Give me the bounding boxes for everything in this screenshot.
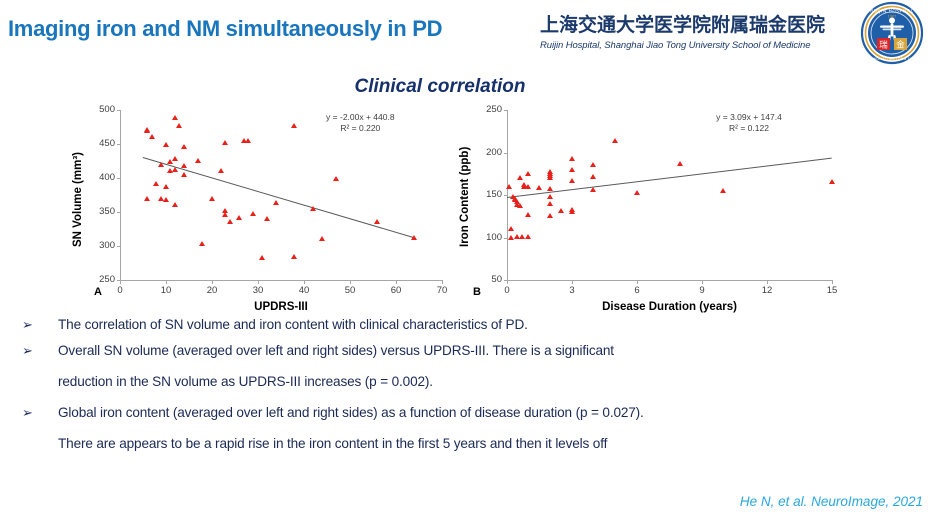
scatter-point (181, 163, 187, 168)
y-axis-tick-label: 300 (84, 240, 115, 251)
scatter-point (569, 209, 575, 214)
y-axis-tick-mark (117, 110, 121, 111)
x-axis-tick-mark (767, 280, 768, 284)
bullet-arrow-icon: ➢ (22, 318, 33, 331)
x-axis-tick-label: 15 (816, 285, 848, 296)
scatter-point (199, 241, 205, 246)
scatter-point (153, 181, 159, 186)
x-axis-tick-mark (832, 280, 833, 284)
scatter-point (172, 167, 178, 172)
scatter-point (176, 123, 182, 128)
scatter-point (181, 172, 187, 177)
scatter-point (149, 134, 155, 139)
svg-text:金: 金 (896, 40, 905, 51)
scatter-point (222, 208, 228, 213)
y-axis-tick-mark (117, 246, 121, 247)
scatter-point (163, 142, 169, 147)
slide-header: Imaging iron and NM simultaneously in PD… (0, 0, 941, 66)
scatter-point (517, 203, 523, 208)
scatter-point (374, 219, 380, 224)
scatter-point (264, 216, 270, 221)
y-axis-tick-mark (504, 153, 508, 154)
y-axis-tick-mark (117, 212, 121, 213)
scatter-point (720, 188, 726, 193)
x-axis-tick-label: 12 (751, 285, 783, 296)
x-axis-tick-label: 10 (150, 285, 182, 296)
y-axis-tick-label: 500 (84, 104, 115, 115)
x-axis-line (120, 280, 443, 281)
bullet-arrow-icon: ➢ (22, 406, 33, 419)
y-axis-tick-label: 50 (471, 274, 502, 285)
scatter-point (506, 184, 512, 189)
scatter-point (525, 234, 531, 239)
organization-name-english: Ruijin Hospital, Shanghai Jiao Tong Univ… (540, 40, 840, 51)
scatter-point (536, 185, 542, 190)
scatter-point (181, 144, 187, 149)
scatter-point (517, 175, 523, 180)
x-axis-tick-mark (304, 280, 305, 284)
x-axis-tick-label: 0 (104, 285, 136, 296)
scatter-point (144, 128, 150, 133)
scatter-point (310, 206, 316, 211)
bullet-text-line: There are appears to be a rapid rise in … (58, 435, 941, 453)
scatter-point (508, 235, 514, 240)
regression-equation: y = 3.09x + 147.4 (689, 112, 809, 123)
x-axis-tick-mark (637, 280, 638, 284)
page-title: Imaging iron and NM simultaneously in PD (8, 16, 442, 42)
scatter-point (163, 197, 169, 202)
x-axis-tick-label: 70 (426, 285, 458, 296)
y-axis-line (120, 110, 121, 280)
scatter-point (319, 236, 325, 241)
bullet-text-line: The correlation of SN volume and iron co… (58, 316, 941, 334)
svg-text:SHANGHAI JIAOTONG UNIV.: SHANGHAI JIAOTONG UNIV. (866, 57, 919, 61)
x-axis-tick-label: 60 (380, 285, 412, 296)
x-axis-tick-mark (212, 280, 213, 284)
scatter-point (634, 190, 640, 195)
bullet-arrow-icon: ➢ (22, 344, 33, 357)
scatter-point (195, 158, 201, 163)
x-axis-title: Disease Duration (years) (507, 301, 832, 313)
x-axis-tick-mark (396, 280, 397, 284)
x-axis-tick-mark (507, 280, 508, 284)
scatter-point (590, 187, 596, 192)
y-axis-tick-label: 250 (84, 274, 115, 285)
x-axis-tick-label: 40 (288, 285, 320, 296)
scatter-point (547, 213, 553, 218)
r-squared-value: R² = 0.122 (689, 123, 809, 134)
bullet-text-line: reduction in the SN volume as UPDRS-III … (58, 373, 941, 391)
panel-a-letter: A (94, 286, 102, 298)
x-axis-tick-label: 3 (556, 285, 588, 296)
x-axis-tick-label: 0 (491, 285, 523, 296)
scatter-point (569, 156, 575, 161)
x-axis-tick-label: 20 (196, 285, 228, 296)
y-axis-tick-label: 400 (84, 172, 115, 183)
scatter-point (245, 138, 251, 143)
panel-b-letter: B (473, 286, 481, 298)
scatter-point (547, 194, 553, 199)
y-axis-tick-label: 450 (84, 138, 115, 149)
scatter-point (291, 123, 297, 128)
bullet-item: ➢The correlation of SN volume and iron c… (0, 316, 941, 342)
scatter-point (590, 162, 596, 167)
regression-annotation: y = -2.00x + 440.8R² = 0.220 (300, 112, 420, 135)
scatter-point (558, 208, 564, 213)
scatter-point (291, 254, 297, 259)
scatter-point (172, 115, 178, 120)
chart-panel-b: B 5010015020025003691215Iron Content (pp… (455, 100, 860, 315)
y-axis-title: Iron Content (ppb) (459, 147, 471, 247)
scatter-point (547, 186, 553, 191)
scatter-point (677, 161, 683, 166)
scatter-point (547, 175, 553, 180)
scatter-point (612, 138, 618, 143)
organization-block: 上海交通大学医学院附属瑞金医院 Ruijin Hospital, Shangha… (540, 10, 840, 51)
scatter-point (209, 196, 215, 201)
scatter-point (163, 184, 169, 189)
bullet-text-line: Global iron content (averaged over left … (58, 404, 941, 422)
x-axis-title: UPDRS-III (120, 301, 442, 313)
scatter-point (569, 178, 575, 183)
scatter-point (222, 140, 228, 145)
scatter-point (547, 201, 553, 206)
bullet-item: ➢Global iron content (averaged over left… (0, 404, 941, 453)
scatter-point (158, 162, 164, 167)
scatter-point (250, 211, 256, 216)
x-axis-tick-mark (258, 280, 259, 284)
scatter-point (525, 171, 531, 176)
x-axis-tick-label: 50 (334, 285, 366, 296)
scatter-point (508, 226, 514, 231)
x-axis-tick-mark (572, 280, 573, 284)
figure-title: Clinical correlation (0, 76, 880, 98)
svg-text:1907: 1907 (888, 15, 897, 19)
r-squared-value: R² = 0.220 (300, 123, 420, 134)
scatter-point (829, 179, 835, 184)
x-axis-tick-label: 6 (621, 285, 653, 296)
y-axis-tick-label: 250 (471, 104, 502, 115)
x-axis-tick-mark (350, 280, 351, 284)
scatter-point (259, 255, 265, 260)
y-axis-tick-label: 150 (471, 189, 502, 200)
y-axis-tick-mark (504, 110, 508, 111)
bullet-item: ➢Overall SN volume (averaged over left a… (0, 342, 941, 391)
x-axis-tick-mark (702, 280, 703, 284)
chart-panel-a: A 250300350400450500010203040506070SN Vo… (72, 100, 462, 315)
y-axis-tick-label: 350 (84, 206, 115, 217)
scatter-point (172, 156, 178, 161)
y-axis-tick-label: 200 (471, 147, 502, 158)
x-axis-tick-mark (166, 280, 167, 284)
x-axis-tick-label: 9 (686, 285, 718, 296)
bullet-text-line: Overall SN volume (averaged over left an… (58, 342, 941, 360)
scatter-point (218, 168, 224, 173)
x-axis-tick-label: 30 (242, 285, 274, 296)
trendline (143, 157, 415, 238)
scatter-point (236, 215, 242, 220)
svg-text:RUIJIN HOSPITAL: RUIJIN HOSPITAL (870, 9, 914, 14)
ruijin-hospital-logo-icon: 瑞 金 RUIJIN HOSPITAL 1907 SHANGHAI JIAOTO… (849, 1, 935, 65)
scatter-point (172, 202, 178, 207)
x-axis-tick-mark (120, 280, 121, 284)
bullet-list: ➢The correlation of SN volume and iron c… (0, 316, 941, 466)
scatter-point (525, 184, 531, 189)
organization-name-chinese: 上海交通大学医学院附属瑞金医院 (540, 10, 840, 37)
scatter-point (590, 174, 596, 179)
y-axis-tick-mark (117, 144, 121, 145)
y-axis-tick-label: 100 (471, 232, 502, 243)
x-axis-line (507, 280, 833, 281)
scatter-point (411, 235, 417, 240)
scatter-point (227, 219, 233, 224)
scatter-point (569, 167, 575, 172)
y-axis-title: SN Volume (mm³) (72, 152, 84, 247)
scatter-point (144, 196, 150, 201)
regression-equation: y = -2.00x + 440.8 (300, 112, 420, 123)
x-axis-tick-mark (442, 280, 443, 284)
scatter-point (525, 212, 531, 217)
scatter-point (333, 176, 339, 181)
citation-reference: He N, et al. NeuroImage, 2021 (740, 494, 923, 509)
scatter-point (273, 200, 279, 205)
scatter-point (519, 234, 525, 239)
regression-annotation: y = 3.09x + 147.4R² = 0.122 (689, 112, 809, 135)
svg-text:瑞: 瑞 (879, 40, 888, 51)
y-axis-tick-mark (117, 178, 121, 179)
trendline (507, 158, 832, 199)
